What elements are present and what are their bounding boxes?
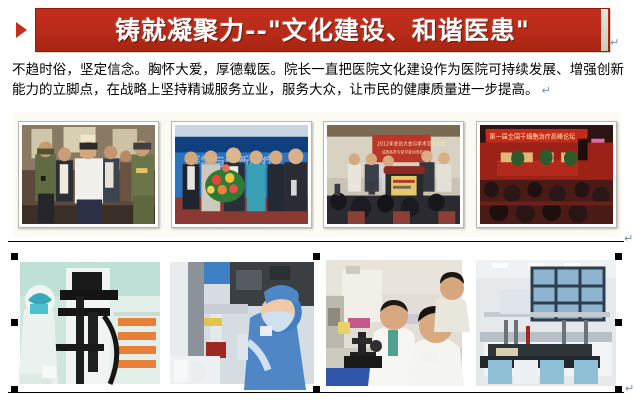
body-paragraph[interactable]: 不趋时俗，坚定信念。胸怀大爱，厚德载医。院长一直把医院文化建设作为医院可持续发展… — [12, 60, 624, 101]
paragraph-mark-title: ↵ — [610, 36, 619, 49]
photo-art-8 — [470, 256, 622, 390]
photo-sterile-operator[interactable] — [166, 256, 318, 390]
title-banner-row: 铸就凝聚力--"文化建设、和谐医患" — [0, 4, 635, 56]
photo-lab-microscope[interactable] — [318, 256, 470, 390]
photo-art-5 — [14, 256, 166, 390]
photo-frame-3[interactable]: 2012年会员大会与学术交流大会 诚邀各界专家学者共同参与 — [323, 121, 464, 228]
selection-handle-top-center[interactable] — [313, 253, 320, 260]
title-banner[interactable]: 铸就凝聚力--"文化建设、和谐医患" — [35, 8, 610, 52]
photo-art-7 — [318, 256, 470, 390]
photo-empty-laboratory[interactable] — [470, 256, 622, 390]
section-divider-1 — [8, 241, 624, 242]
svg-text:第一届全国干细胞治疗高峰论坛: 第一届全国干细胞治疗高峰论坛 — [489, 132, 575, 141]
photo-frame-1[interactable] — [18, 121, 159, 228]
photo-frame-4[interactable]: 第一届全国干细胞治疗高峰论坛 — [476, 121, 617, 228]
photo-art-3: 2012年会员大会与学术交流大会 诚邀各界专家学者共同参与 — [327, 125, 460, 224]
photo-art-1 — [22, 125, 155, 224]
photo-forum-hall: 第一届全国干细胞治疗高峰论坛 — [480, 125, 613, 224]
document-page: 铸就凝聚力--"文化建设、和谐医患" ↵ 不趋时俗，坚定信念。胸怀大爱，厚德载医… — [0, 0, 635, 402]
body-paragraph-text: 不趋时俗，坚定信念。胸怀大爱，厚德载医。院长一直把医院文化建设作为医院可持续发展… — [12, 62, 624, 98]
photo-flower-presentation: 医学与创新医疗 — [175, 125, 308, 224]
paragraph-mark-row2: ↵ — [625, 382, 634, 395]
photo-officials-corridor — [22, 125, 155, 224]
banner-right-edge — [601, 9, 608, 51]
photo-frame-2[interactable]: 医学与创新医疗 — [171, 121, 312, 228]
selection-handle-bottom-right[interactable] — [615, 386, 622, 393]
svg-text:2012年会员大会与学术交流大会: 2012年会员大会与学术交流大会 — [377, 140, 446, 147]
photo-row-1[interactable]: 医学与创新医疗 — [14, 112, 621, 237]
photo-art-6 — [166, 256, 318, 390]
photo-row-2-images — [14, 256, 622, 390]
svg-text:诚邀各界专家学者共同参与: 诚邀各界专家学者共同参与 — [382, 149, 427, 154]
selection-handle-middle-left[interactable] — [11, 319, 18, 326]
title-banner-text: 铸就凝聚力--"文化建设、和谐医患" — [115, 18, 530, 43]
photo-row-2[interactable] — [14, 256, 622, 390]
photo-art-4: 第一届全国干细胞治疗高峰论坛 — [480, 125, 613, 224]
photo-cleanroom-technician[interactable] — [14, 256, 166, 390]
paragraph-mark-body: ↵ — [542, 84, 551, 97]
photo-conference-audience: 2012年会员大会与学术交流大会 诚邀各界专家学者共同参与 — [327, 125, 460, 224]
selection-handle-top-right[interactable] — [615, 253, 622, 260]
triangle-right-icon — [16, 22, 27, 38]
paragraph-mark-row1: ↵ — [624, 232, 633, 245]
selection-handle-bottom-center[interactable] — [313, 386, 320, 393]
selection-handle-top-left[interactable] — [11, 253, 18, 260]
selection-handle-bottom-left[interactable] — [11, 386, 18, 393]
selection-handle-middle-right[interactable] — [615, 319, 622, 326]
photo-art-2: 医学与创新医疗 — [175, 125, 308, 224]
